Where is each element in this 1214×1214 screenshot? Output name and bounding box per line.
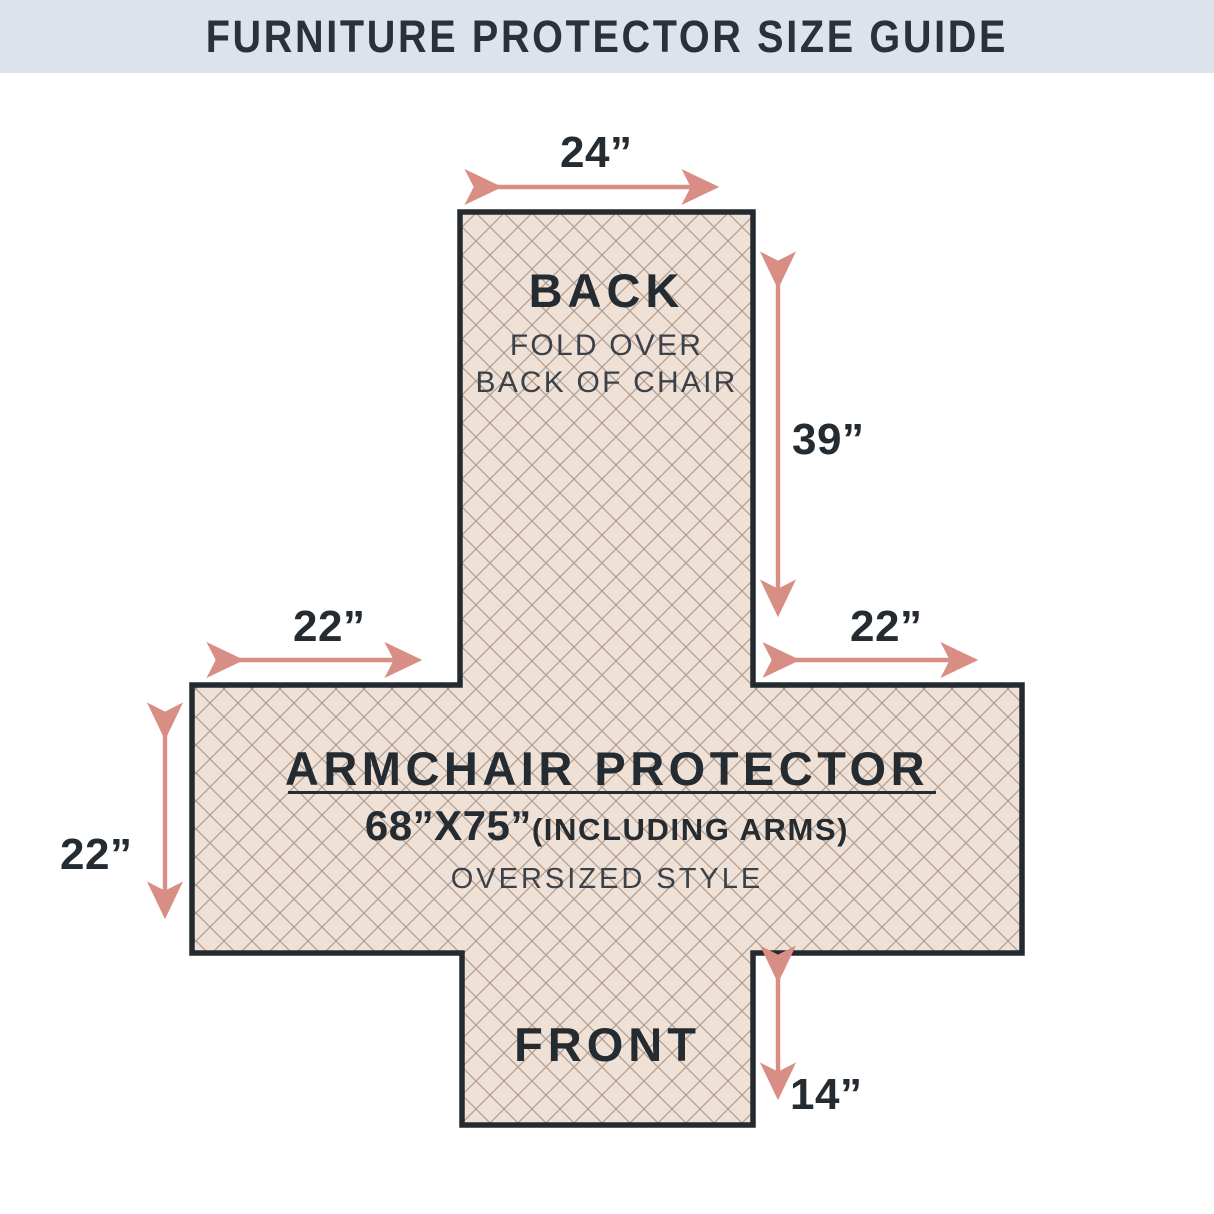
dimension-label-arm-depth: 22”	[60, 833, 132, 877]
diagram-stage: BACK FOLD OVER BACK OF CHAIR ARMCHAIR PR…	[0, 73, 1214, 1214]
back-panel-label: BACK	[460, 267, 753, 314]
back-instruction-line-2: BACK OF CHAIR	[460, 365, 753, 402]
size-guide-page: FURNITURE PROTECTOR SIZE GUIDE	[0, 0, 1214, 1214]
dimension-label-front-height: 14”	[790, 1073, 862, 1117]
front-panel-label: FRONT	[462, 1021, 753, 1068]
product-title: ARMCHAIR PROTECTOR	[192, 745, 1022, 792]
title-underline-rule	[288, 791, 936, 794]
back-instruction-line-1: FOLD OVER	[460, 328, 753, 365]
product-dimensions-value: 68”X75”	[365, 802, 532, 849]
header-band: FURNITURE PROTECTOR SIZE GUIDE	[0, 0, 1214, 73]
dimension-label-left-arm: 22”	[293, 605, 365, 649]
product-dimensions-note: (INCLUDING ARMS)	[532, 812, 849, 847]
back-panel-instruction: FOLD OVER BACK OF CHAIR	[460, 328, 753, 401]
product-dimensions: 68”X75”(INCLUDING ARMS)	[192, 805, 1022, 847]
product-style: OVERSIZED STYLE	[192, 865, 1022, 894]
dimension-label-top-width: 24”	[560, 131, 632, 175]
page-title: FURNITURE PROTECTOR SIZE GUIDE	[206, 14, 1008, 59]
dimension-label-back-height: 39”	[792, 418, 864, 462]
dimension-label-right-arm: 22”	[850, 605, 922, 649]
